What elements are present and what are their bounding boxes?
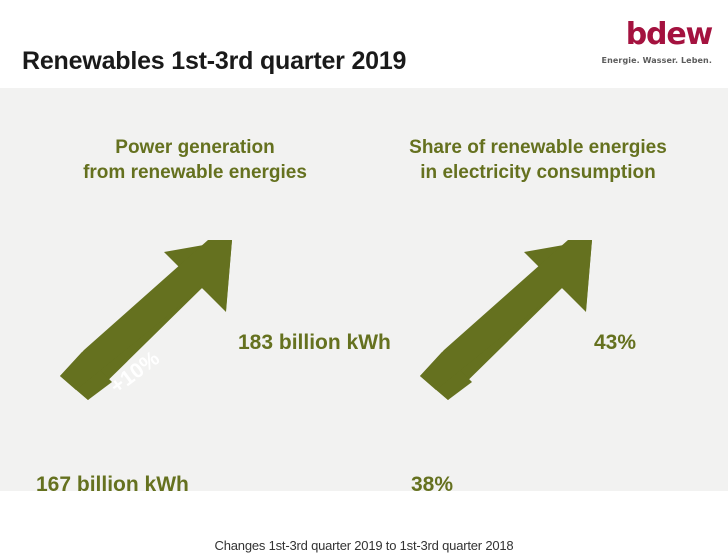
left-heading-line-1: Power generation [30,135,360,160]
left-column-heading: Power generation from renewable energies [30,135,360,186]
left-heading-line-2: from renewable energies [30,160,360,185]
right-end-value-label: 43% [594,331,636,355]
logo-tagline: Energie. Wasser. Leben. [600,56,712,65]
infographic-slide: Renewables 1st-3rd quarter 2019 bdew Ene… [0,0,728,491]
left-start-value-label: 167 billion kWh [36,473,189,497]
right-start-value-label: 38% [411,473,453,497]
page-title: Renewables 1st-3rd quarter 2019 [22,47,406,76]
right-column-heading: Share of renewable energies in electrici… [370,135,706,186]
right-heading-line-1: Share of renewable energies [370,135,706,160]
right-heading-line-2: in electricity consumption [370,160,706,185]
right-growth-arrow-icon [420,240,600,400]
content-panel: Power generation from renewable energies… [0,88,728,491]
left-end-value-label: 183 billion kWh [238,331,391,355]
slide-header: Renewables 1st-3rd quarter 2019 bdew Ene… [0,0,728,88]
logo-wordmark: bdew [600,20,712,50]
bdew-logo: bdew Energie. Wasser. Leben. [600,20,712,65]
footnote-text: Changes 1st-3rd quarter 2019 to 1st-3rd … [0,538,728,553]
